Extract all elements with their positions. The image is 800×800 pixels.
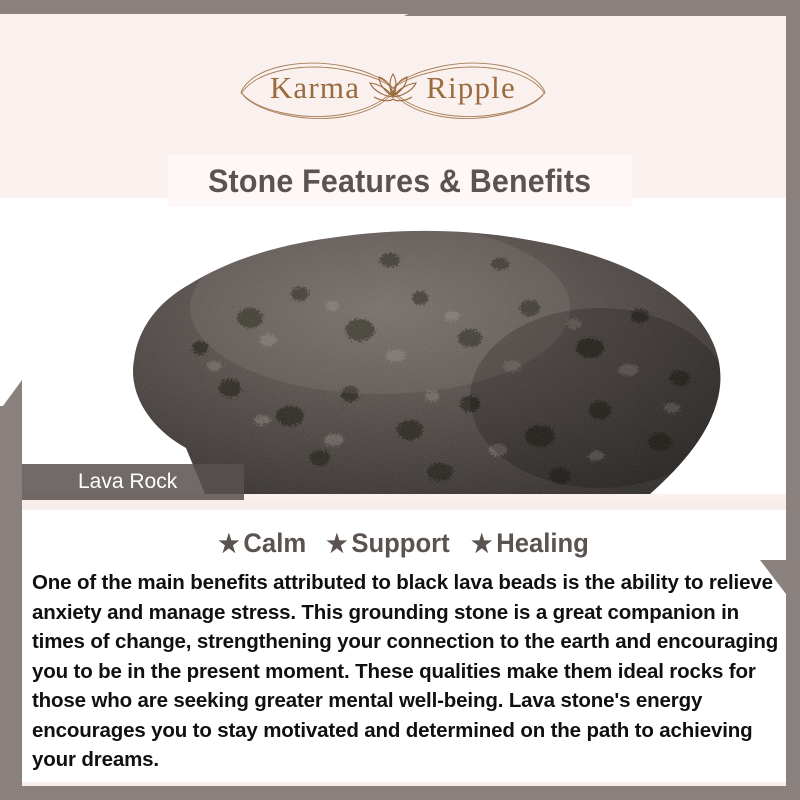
card-body: Karma Ripple bbox=[0, 14, 786, 786]
title-banner: Stone Features & Benefits bbox=[168, 155, 632, 207]
benefit-keyword-calm-label: Calm bbox=[244, 528, 307, 558]
content-section: ★Calm ★Support ★Healing One of the main … bbox=[22, 510, 786, 782]
benefit-keyword-healing: ★Healing bbox=[471, 528, 589, 559]
brand-name-left: Karma bbox=[270, 70, 360, 105]
frame-left bbox=[0, 406, 22, 800]
section-divider bbox=[22, 500, 786, 510]
lava-rock-photo bbox=[0, 198, 786, 494]
logo-artwork: Karma Ripple bbox=[233, 52, 553, 124]
benefit-keyword-support: ★Support bbox=[327, 528, 450, 559]
star-icon: ★ bbox=[471, 530, 492, 558]
lava-rock-illustration bbox=[0, 198, 786, 494]
frame-top-right bbox=[428, 0, 800, 16]
bottom-strip bbox=[22, 782, 786, 786]
body-paragraph: One of the main benefits attributed to b… bbox=[32, 568, 784, 775]
photo-caption-label: Lava Rock bbox=[22, 470, 177, 494]
frame-bottom bbox=[0, 788, 800, 800]
benefit-keyword-healing-label: Healing bbox=[496, 528, 589, 558]
benefit-keyword-calm: ★Calm bbox=[219, 528, 307, 559]
photo-caption-band: Lava Rock bbox=[22, 464, 244, 500]
star-icon: ★ bbox=[219, 530, 240, 558]
brand-logo: Karma Ripple bbox=[0, 52, 786, 124]
page-title: Stone Features & Benefits bbox=[208, 163, 591, 200]
frame-right bbox=[786, 0, 800, 800]
infographic-card: Karma Ripple bbox=[0, 0, 800, 800]
star-icon: ★ bbox=[327, 530, 348, 558]
benefit-keyword-support-label: Support bbox=[352, 528, 450, 558]
benefit-keywords: ★Calm ★Support ★Healing bbox=[22, 528, 786, 559]
brand-name-right: Ripple bbox=[426, 70, 516, 105]
